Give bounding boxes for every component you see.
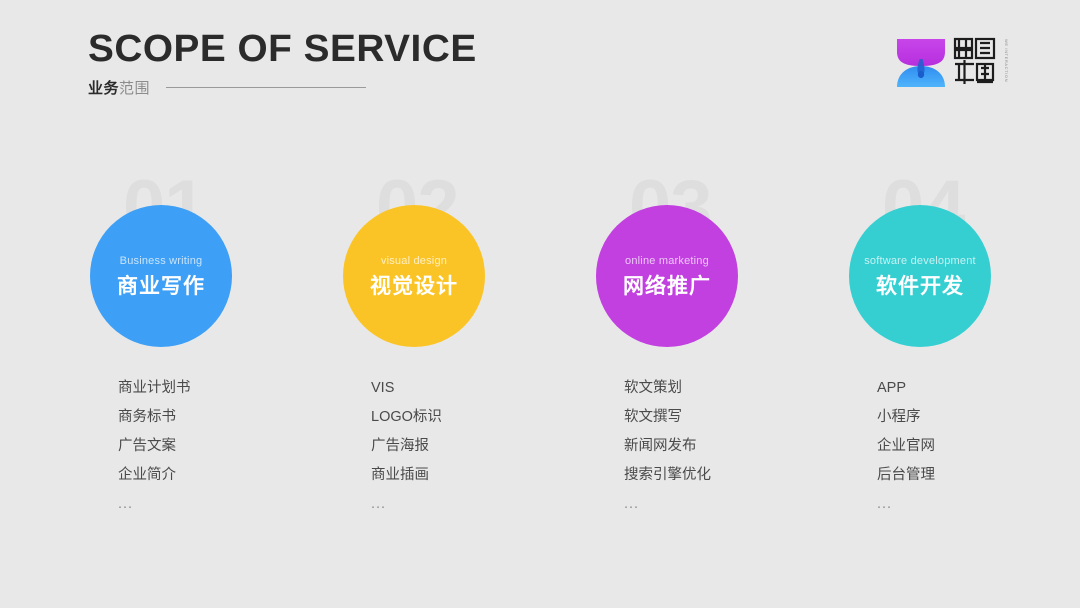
list-item: 软文策划 — [624, 381, 824, 396]
service-list-3: 软文策划 软文撰写 新闻网发布 搜索引擎优化 ... — [624, 381, 824, 526]
list-item: 商业计划书 — [118, 381, 318, 396]
service-circle-4[interactable]: software development 软件开发 — [849, 205, 991, 347]
list-item: 广告文案 — [118, 439, 318, 454]
service-circle-en-label: Business writing — [120, 256, 203, 267]
list-item: 软文撰写 — [624, 410, 824, 425]
list-item: 后台管理 — [877, 468, 1077, 483]
service-circle-2[interactable]: visual design 视觉设计 — [343, 205, 485, 347]
list-item: 企业简介 — [118, 468, 318, 483]
list-item: VIS — [371, 381, 571, 396]
service-circle-1[interactable]: Business writing 商业写作 — [90, 205, 232, 347]
service-circle-cn-label: 软件开发 — [876, 276, 964, 297]
list-item-ellipsis: ... — [371, 497, 571, 512]
service-list-2: VIS LOGO标识 广告海报 商业插画 ... — [371, 381, 571, 526]
service-circle-en-label: software development — [864, 256, 976, 267]
list-item-ellipsis: ... — [624, 497, 824, 512]
list-item: APP — [877, 381, 1077, 396]
list-item: 广告海报 — [371, 439, 571, 454]
list-item: 企业官网 — [877, 439, 1077, 454]
service-circle-cn-label: 网络推广 — [623, 276, 711, 297]
list-item: LOGO标识 — [371, 410, 571, 425]
list-item: 新闻网发布 — [624, 439, 824, 454]
list-item-ellipsis: ... — [877, 497, 1077, 512]
service-circle-3[interactable]: online marketing 网络推广 — [596, 205, 738, 347]
service-circle-en-label: visual design — [381, 256, 447, 267]
list-item-ellipsis: ... — [118, 497, 318, 512]
list-item: 商业插画 — [371, 468, 571, 483]
list-item: 搜索引擎优化 — [624, 468, 824, 483]
list-item: 商务标书 — [118, 410, 318, 425]
service-columns: 01 Business writing 商业写作 商业计划书 商务标书 广告文案… — [0, 0, 1080, 608]
service-list-1: 商业计划书 商务标书 广告文案 企业简介 ... — [118, 381, 318, 526]
list-item: 小程序 — [877, 410, 1077, 425]
service-circle-cn-label: 视觉设计 — [370, 276, 458, 297]
service-circle-cn-label: 商业写作 — [117, 276, 205, 297]
service-circle-en-label: online marketing — [625, 256, 709, 267]
slide-canvas: SCOPE OF SERVICE 业务 范围 — [0, 0, 1080, 608]
service-list-4: APP 小程序 企业官网 后台管理 ... — [877, 381, 1077, 526]
